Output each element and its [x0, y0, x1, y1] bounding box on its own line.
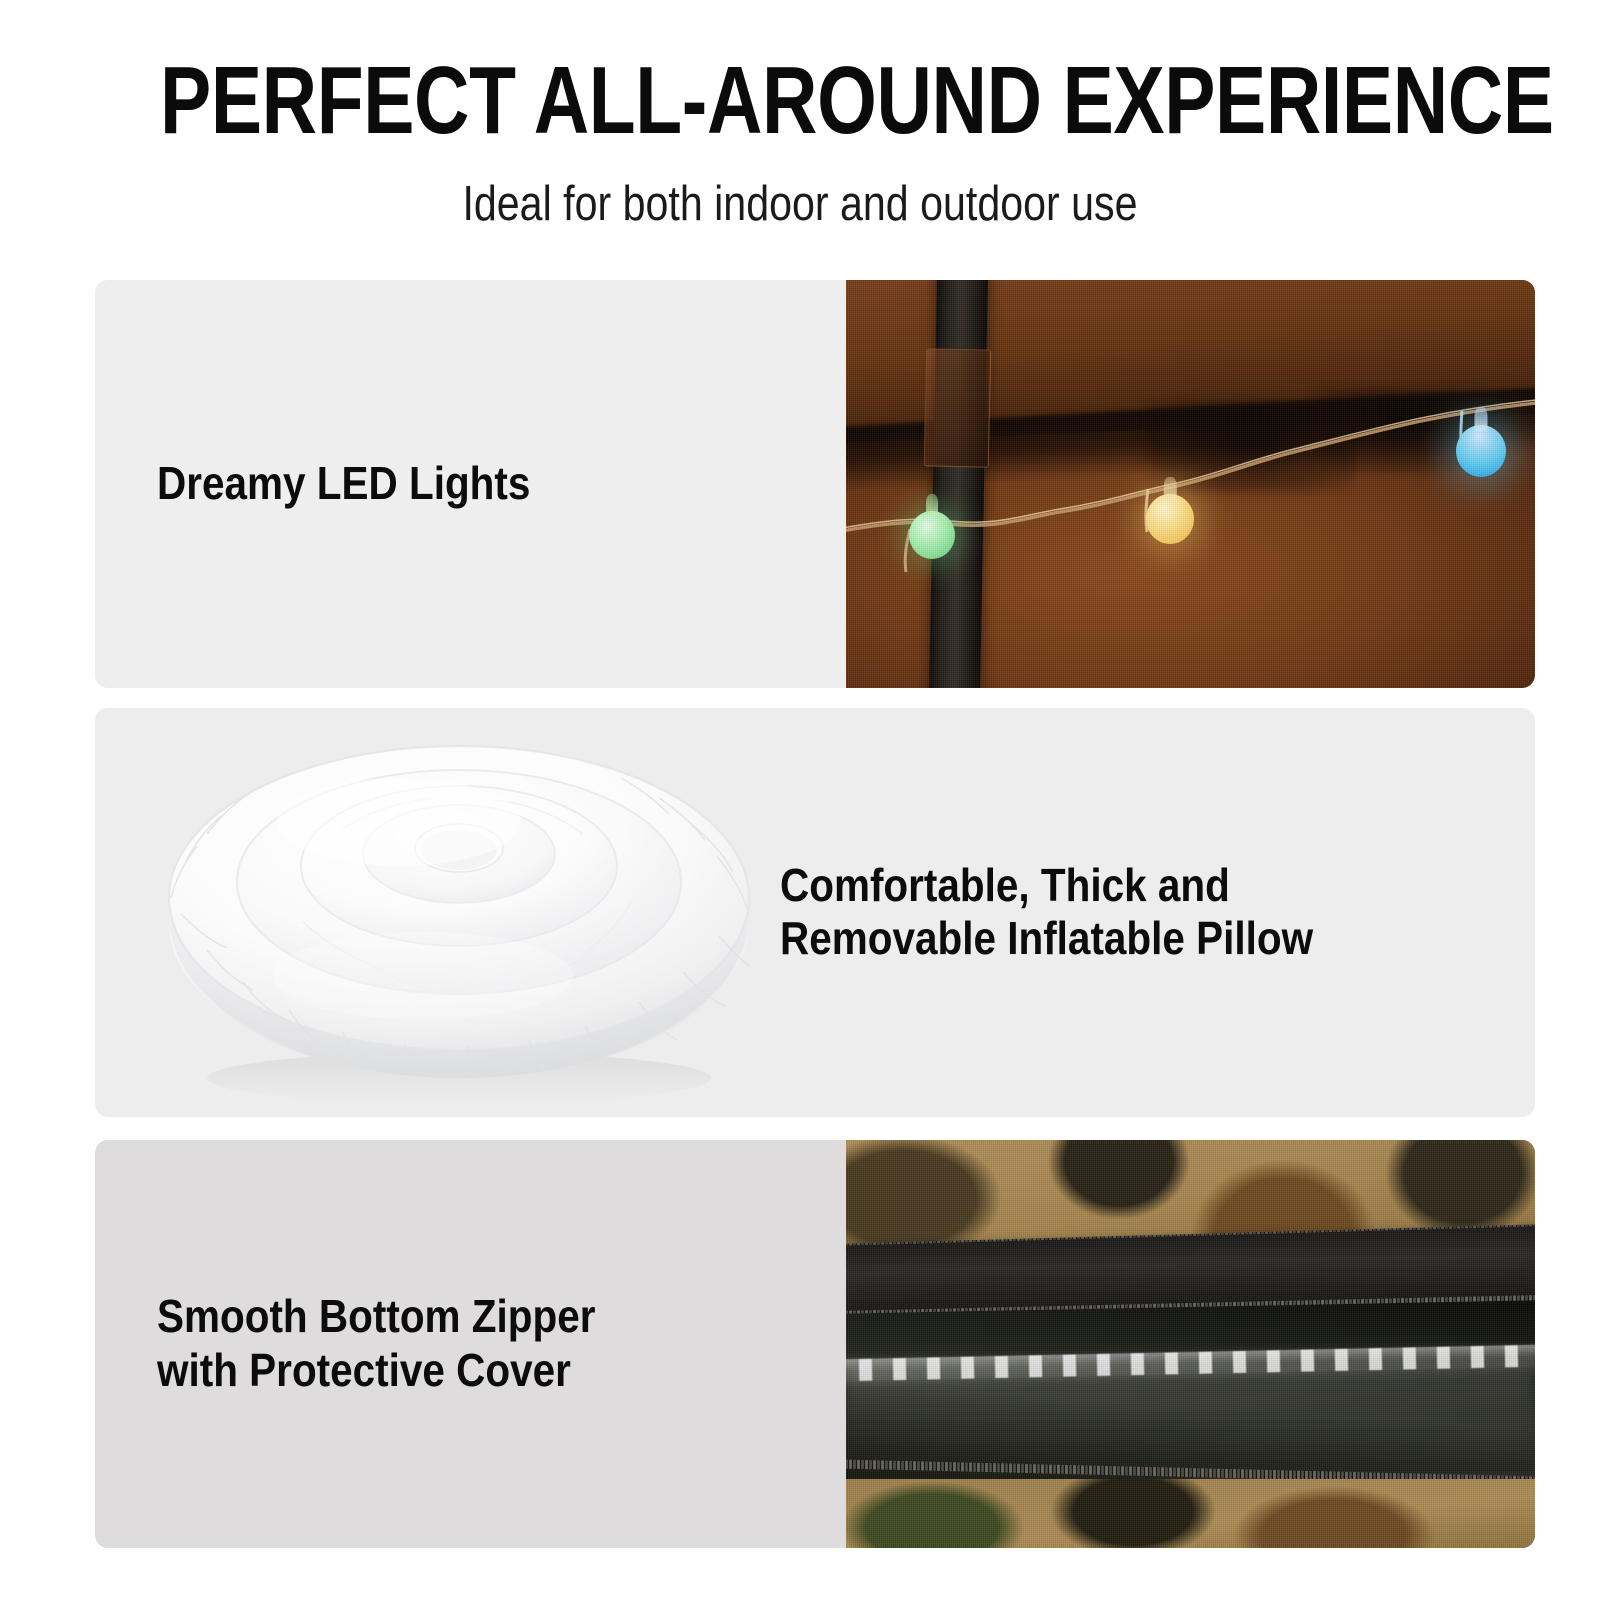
feature-card-inflatable-pillow: Comfortable, Thick and Removable Inflata…: [95, 708, 1535, 1117]
bulb-neck: [926, 494, 938, 516]
feature-label-led-lights: Dreamy LED Lights: [157, 457, 530, 511]
feature-label-inflatable-pillow: Comfortable, Thick and Removable Inflata…: [780, 859, 1313, 967]
camouflage-fabric-bottom: [846, 1479, 1535, 1548]
green-bulb-icon: [909, 511, 955, 559]
page-subtitle: Ideal for both indoor and outdoor use: [128, 178, 1472, 232]
infographic-page: PERFECT ALL-AROUND EXPERIENCE Ideal for …: [0, 0, 1600, 1600]
tent-interior-background: [846, 280, 1535, 688]
feature-card-bottom-zipper: Smooth Bottom Zipper with Protective Cov…: [95, 1140, 1535, 1548]
bulb-neck: [1474, 407, 1487, 431]
zipper-closeup-background: [846, 1140, 1535, 1548]
bulb-neck: [1164, 477, 1176, 500]
light-string-wire: [846, 280, 1535, 688]
blue-bulb-icon: [1456, 425, 1506, 477]
page-title: PERFECT ALL-AROUND EXPERIENCE: [160, 52, 1440, 150]
inflatable-pillow-photo: [123, 726, 783, 1108]
liner-sheen: [846, 1364, 1535, 1470]
feature-card-led-lights: Dreamy LED Lights: [95, 280, 1535, 688]
bottom-zipper-photo: [846, 1140, 1535, 1548]
led-string-lights-photo: [846, 280, 1535, 688]
feature-label-bottom-zipper: Smooth Bottom Zipper with Protective Cov…: [157, 1290, 595, 1398]
